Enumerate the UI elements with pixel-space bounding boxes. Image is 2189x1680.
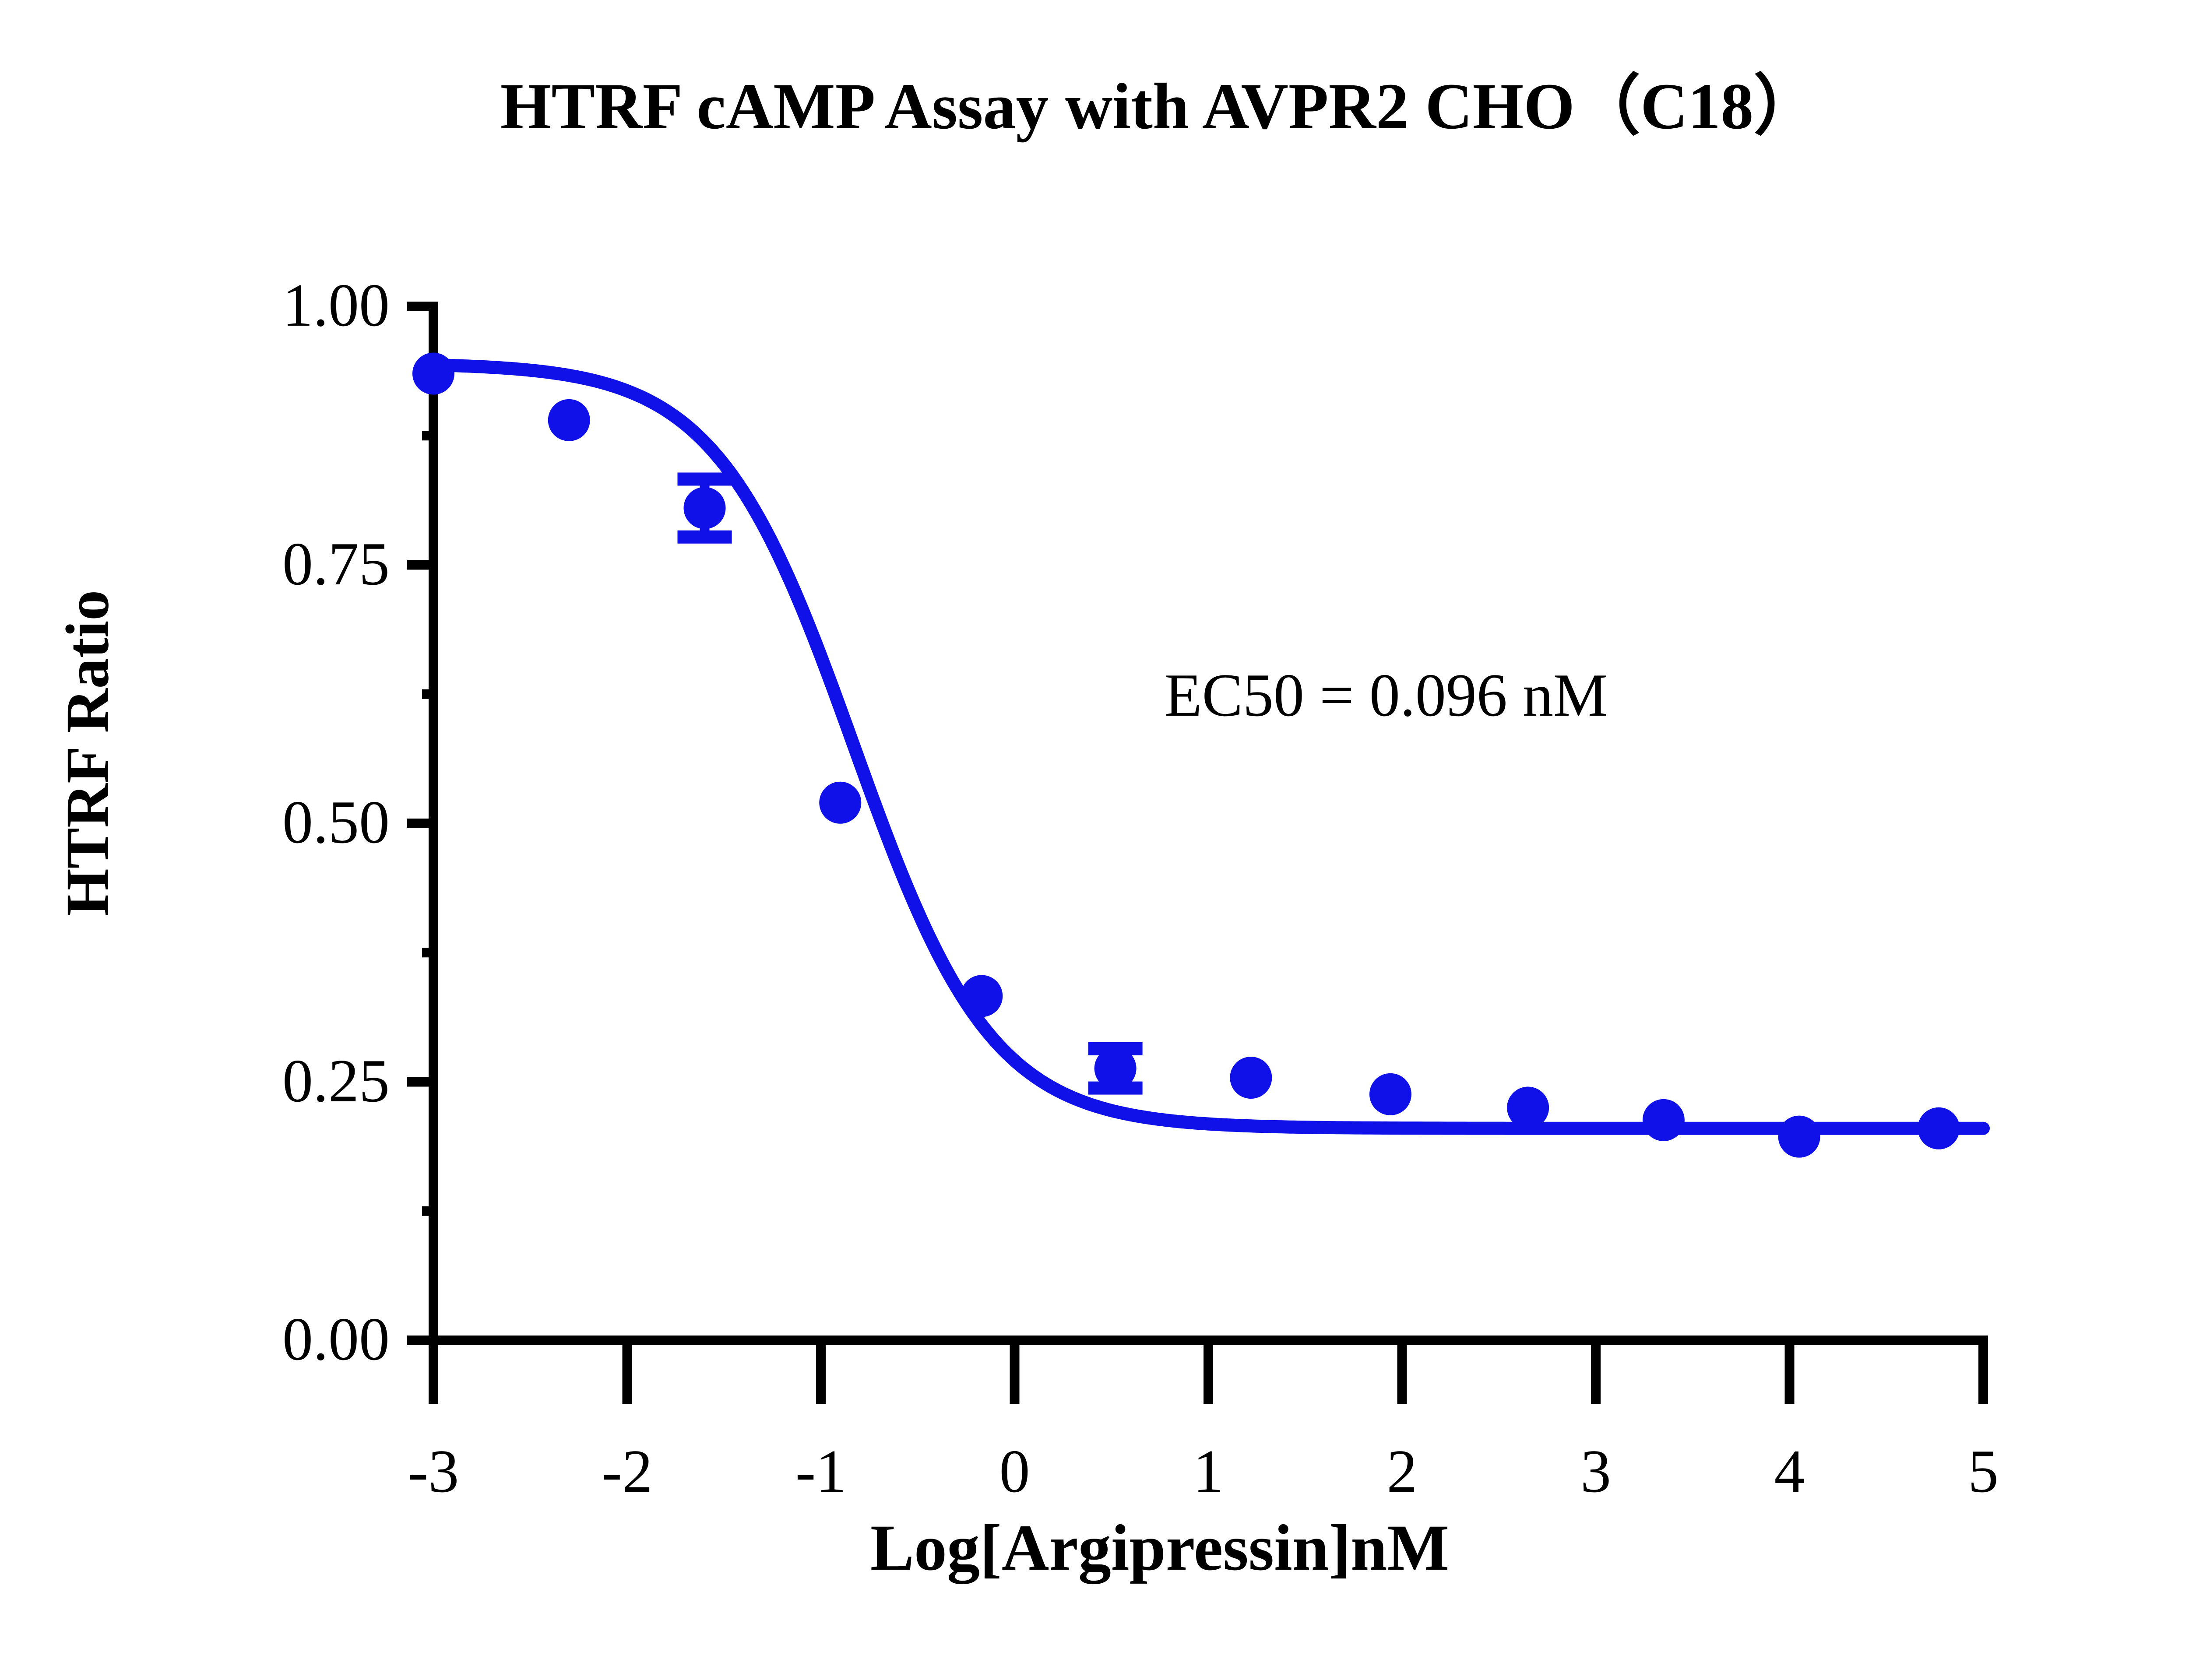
data-point xyxy=(1778,1116,1820,1158)
x-tick-label: -3 xyxy=(368,1441,499,1502)
data-point xyxy=(961,975,1003,1017)
fit-curve xyxy=(433,365,1983,1128)
data-point xyxy=(1094,1047,1137,1090)
x-tick-label: 3 xyxy=(1530,1441,1661,1502)
data-point-layer xyxy=(412,353,1960,1158)
fit-curve-layer xyxy=(433,365,1983,1128)
data-point xyxy=(1918,1107,1960,1149)
error-bar-layer xyxy=(678,479,1143,1088)
data-point xyxy=(1643,1099,1685,1141)
data-point xyxy=(684,487,726,529)
axis-layer xyxy=(407,302,1988,1404)
data-point xyxy=(1507,1087,1549,1129)
data-point xyxy=(412,353,454,395)
x-tick-label: -1 xyxy=(755,1441,887,1502)
x-tick-label: 2 xyxy=(1337,1441,1468,1502)
y-tick-label: 1.00 xyxy=(57,275,390,336)
y-tick-label: 0.25 xyxy=(57,1051,390,1112)
x-tick-label: 0 xyxy=(949,1441,1080,1502)
y-tick-label: 0.00 xyxy=(57,1309,390,1370)
x-tick-label: -2 xyxy=(562,1441,693,1502)
data-point xyxy=(819,782,861,824)
y-tick-label: 0.75 xyxy=(57,534,390,595)
data-point xyxy=(548,399,590,441)
x-tick-label: 4 xyxy=(1724,1441,1855,1502)
x-tick-label: 1 xyxy=(1143,1441,1274,1502)
y-tick-label: 0.50 xyxy=(57,792,390,853)
x-tick-label: 5 xyxy=(1918,1441,2049,1502)
chart-root: HTRF cAMP Assay with AVPR2 CHO（C18） HTRF… xyxy=(0,0,2189,1680)
data-point xyxy=(1369,1073,1411,1115)
data-point xyxy=(1230,1057,1272,1099)
